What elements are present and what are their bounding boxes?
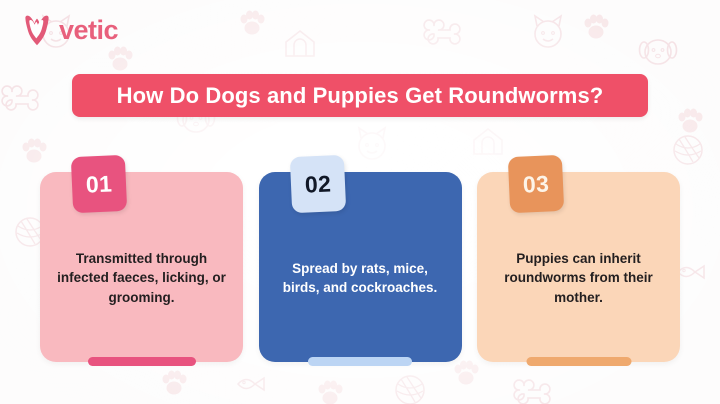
card-number-03: 03 [522,170,549,198]
brand-name: vetic [59,17,118,44]
card-text-02: Spread by rats, mice, birds, and cockroa… [259,213,462,321]
card-number-badge-01: 01 [71,155,127,213]
cards-row: 01 Transmitted through infected faeces, … [40,172,680,372]
heart-cat-icon [22,14,52,46]
card-number-02: 02 [304,170,331,198]
card-number-badge-02: 02 [289,155,345,213]
info-card-01[interactable]: 01 Transmitted through infected faeces, … [40,172,243,362]
card-text-03: Puppies can inherit roundworms from thei… [477,203,680,330]
card-number-01: 01 [85,170,112,198]
infographic-canvas: vetic How Do Dogs and Puppies Get Roundw… [0,0,720,404]
info-card-02[interactable]: 02 Spread by rats, mice, birds, and cock… [259,172,462,362]
page-title: How Do Dogs and Puppies Get Roundworms? [117,83,604,109]
brand-logo[interactable]: vetic [22,14,118,46]
infographic-content: vetic How Do Dogs and Puppies Get Roundw… [0,0,720,404]
card-accent-bar-01 [88,357,196,366]
title-banner: How Do Dogs and Puppies Get Roundworms? [72,74,648,117]
card-text-01: Transmitted through infected faeces, lic… [40,203,243,330]
card-accent-bar-03 [526,357,631,366]
card-number-badge-03: 03 [508,155,564,213]
info-card-03[interactable]: 03 Puppies can inherit roundworms from t… [477,172,680,362]
card-accent-bar-02 [308,357,412,366]
